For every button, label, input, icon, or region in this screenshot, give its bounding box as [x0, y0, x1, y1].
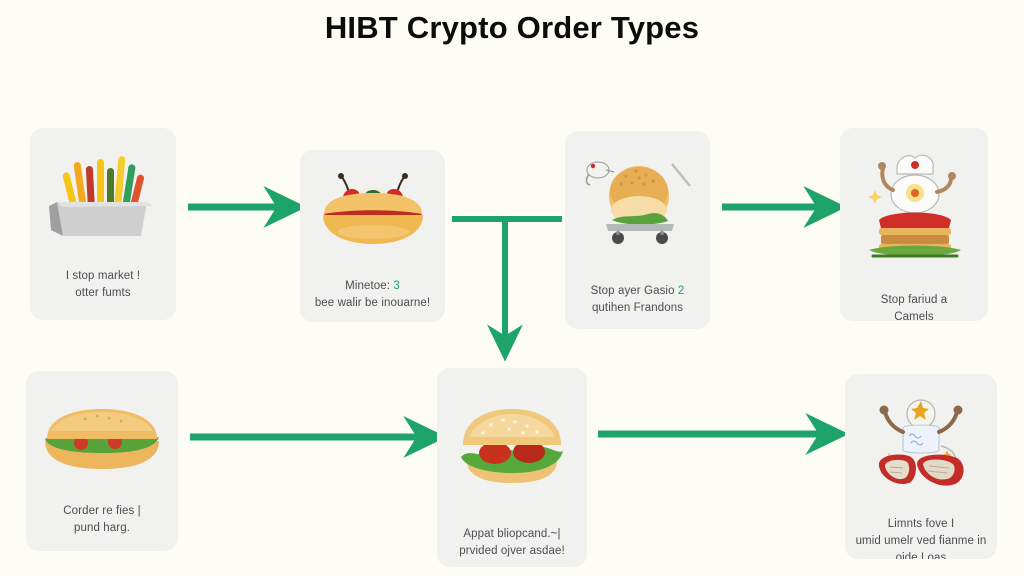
caption-line: prvided ojver asdae!	[445, 543, 579, 560]
caption-line: pund harg.	[34, 520, 170, 537]
hotdog-pastry-icon	[300, 150, 445, 258]
card-order-book-caption: Corder re fies | pund harg.	[26, 503, 178, 537]
card-order-book[interactable]: Corder re fies | pund harg.	[26, 371, 178, 551]
caption-line: Stop fariud a	[848, 292, 980, 309]
card-liquidation[interactable]: Limnts fove I umid umelr ved fianme in o…	[845, 374, 997, 559]
caption-line: Corder re fies |	[34, 503, 170, 520]
caption-line: bee walir be inouarne!	[308, 295, 437, 312]
sub-sandwich-icon	[26, 371, 178, 485]
caption-line: Camels	[848, 309, 980, 321]
card-market-order[interactable]: I stop market ! otter fumts	[30, 128, 176, 320]
bun-on-skateboard-icon	[565, 131, 710, 261]
card-market-order-caption: I stop market ! otter fumts	[30, 268, 176, 302]
card-stop-limit-order[interactable]: Stop fariud a Camels	[840, 128, 988, 321]
card-market-depth[interactable]: Appat bliopcand.~| prvided ojver asdae!	[437, 368, 587, 567]
diagram-canvas: HIBT Crypto Order Types	[0, 0, 1024, 576]
chef-pastry-icon	[845, 374, 997, 502]
hamburger-icon	[437, 368, 587, 502]
caption-line: oide Loas	[853, 550, 989, 559]
caption-line: Limnts fove I	[853, 516, 989, 533]
fries-box-icon	[30, 128, 176, 254]
page-title: HIBT Crypto Order Types	[0, 10, 1024, 46]
caption-line: umid umelr ved fianme in	[853, 533, 989, 550]
caption-line: Minetoe: 3	[308, 278, 437, 295]
caption-line: I stop market !	[38, 268, 168, 285]
caption-line: qutihen Frandons	[573, 300, 702, 317]
caption-line: otter fumts	[38, 285, 168, 302]
card-liquidation-caption: Limnts fove I umid umelr ved fianme in o…	[845, 516, 997, 559]
caption-line: Appat bliopcand.~|	[445, 526, 579, 543]
caption-line: Stop ayer Gasio 2	[573, 283, 702, 300]
card-stop-order-caption: Stop ayer Gasio 2 qutihen Frandons	[565, 283, 710, 317]
card-limit-order[interactable]: Minetoe: 3 bee walir be inouarne!	[300, 150, 445, 322]
card-market-depth-caption: Appat bliopcand.~| prvided ojver asdae!	[437, 526, 587, 560]
card-stop-order[interactable]: Stop ayer Gasio 2 qutihen Frandons	[565, 131, 710, 329]
card-limit-order-caption: Minetoe: 3 bee walir be inouarne!	[300, 278, 445, 312]
card-stop-limit-order-caption: Stop fariud a Camels	[840, 292, 988, 321]
chef-sandwich-icon	[840, 128, 988, 268]
